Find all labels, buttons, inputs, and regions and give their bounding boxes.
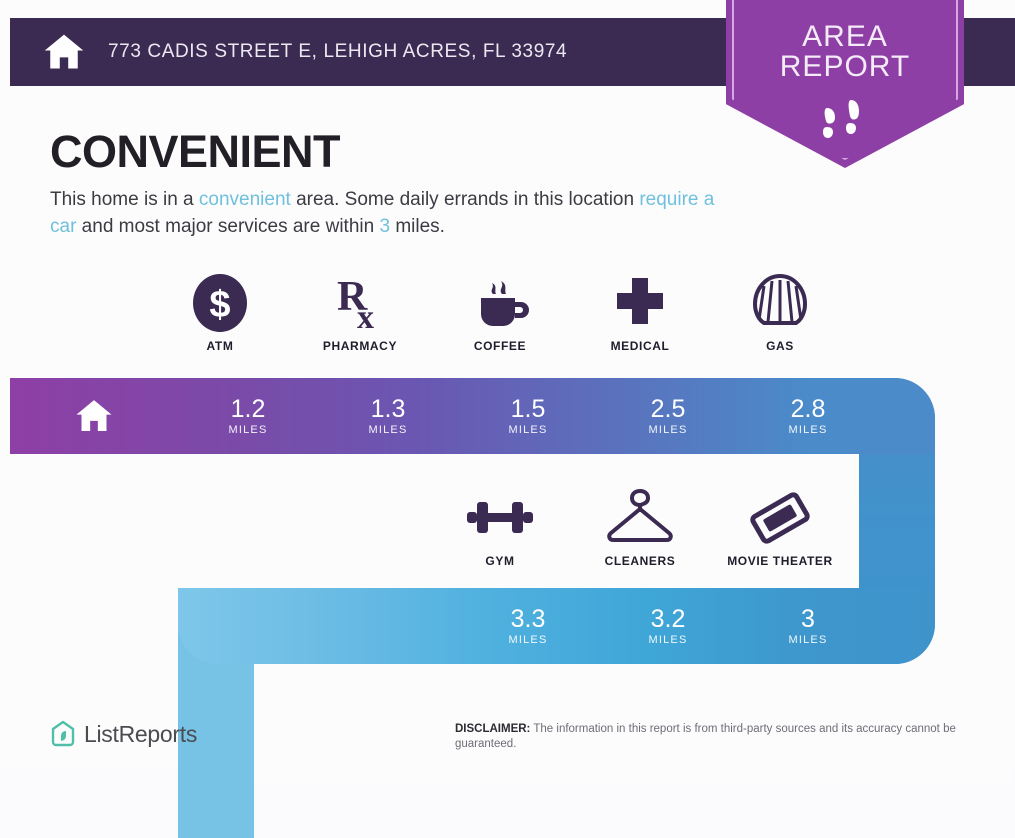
desc-part-1: This home is in a	[50, 189, 199, 210]
distance-value: 3.2	[651, 606, 686, 632]
coffee-cup-icon	[467, 272, 533, 334]
distance-unit: MILES	[508, 424, 547, 436]
bar-spacer-2	[318, 588, 458, 664]
page-title: CONVENIENT	[50, 126, 340, 178]
distance-bar-row-1: 1.2 MILES 1.3 MILES 1.5 MILES 2.5 MILES …	[10, 378, 935, 454]
distance-unit: MILES	[228, 424, 267, 436]
distance-unit: MILES	[788, 424, 827, 436]
home-icon	[42, 30, 86, 74]
home-icon	[71, 396, 117, 436]
amenity-label: PHARMACY	[323, 339, 397, 353]
hanger-icon	[603, 487, 677, 549]
disclaimer: DISCLAIMER: The information in this repo…	[455, 722, 1000, 752]
property-address: 773 CADIS STREET E, LEHIGH ACRES, FL 339…	[108, 41, 567, 63]
amenity-cleaners: CLEANERS	[570, 487, 710, 568]
desc-part-3: and most major services are within	[76, 216, 379, 237]
ticket-icon	[747, 487, 813, 549]
distance-value: 2.5	[651, 396, 686, 422]
amenity-label: MEDICAL	[611, 339, 670, 353]
amenity-pharmacy: R x PHARMACY	[290, 272, 430, 353]
medical-cross-icon	[611, 272, 669, 334]
footprints-icon	[817, 98, 873, 146]
desc-part-4: miles.	[390, 216, 445, 237]
bar-home-cell	[10, 378, 178, 454]
amenity-label: MOVIE THEATER	[727, 554, 833, 568]
svg-text:x: x	[357, 299, 374, 334]
desc-part-2: area. Some daily errands in this locatio…	[291, 189, 640, 210]
amenity-coffee: COFFEE	[430, 272, 570, 353]
distance-cell-gym: 3.3 MILES	[458, 588, 598, 664]
listreports-logo[interactable]: ListReports	[50, 720, 197, 748]
distance-value: 3.3	[511, 606, 546, 632]
disclaimer-label: DISCLAIMER:	[455, 723, 530, 735]
amenity-atm: $ ATM	[150, 272, 290, 353]
distance-value: 1.2	[231, 396, 266, 422]
distance-value: 2.8	[791, 396, 826, 422]
amenity-label: ATM	[207, 339, 234, 353]
area-report-page: 773 CADIS STREET E, LEHIGH ACRES, FL 339…	[0, 0, 1015, 768]
amenity-icon-row-2: GYM CLEANERS MOVIE THEATER	[430, 487, 850, 568]
bar-spacer-1	[178, 588, 318, 664]
amenity-gas: GAS	[710, 272, 850, 353]
amenity-label: CLEANERS	[605, 554, 676, 568]
dollar-circle-icon: $	[191, 272, 249, 334]
amenity-movie-theater: MOVIE THEATER	[710, 487, 850, 568]
distance-cell-atm: 1.2 MILES	[178, 378, 318, 454]
distance-cell-cleaners: 3.2 MILES	[598, 588, 738, 664]
distance-value: 1.3	[371, 396, 406, 422]
distance-value: 1.5	[511, 396, 546, 422]
description-text: This home is in a convenient area. Some …	[50, 186, 730, 240]
badge-line-1: AREA	[726, 22, 964, 52]
gas-shell-icon	[750, 272, 810, 334]
disclaimer-text: The information in this report is from t…	[455, 723, 956, 750]
distance-cell-gas: 2.8 MILES	[738, 378, 878, 454]
badge-title: AREA REPORT	[726, 0, 964, 82]
dumbbell-icon	[463, 487, 537, 549]
distance-unit: MILES	[508, 634, 547, 646]
amenity-medical: MEDICAL	[570, 272, 710, 353]
desc-highlight-1: convenient	[199, 189, 291, 210]
amenity-gym: GYM	[430, 487, 570, 568]
distance-cell-medical: 2.5 MILES	[598, 378, 738, 454]
distance-value: 3	[801, 606, 815, 632]
distance-cell-coffee: 1.5 MILES	[458, 378, 598, 454]
distance-bar-row-2: 3.3 MILES 3.2 MILES 3 MILES	[178, 588, 935, 664]
distance-unit: MILES	[788, 634, 827, 646]
distance-unit: MILES	[648, 424, 687, 436]
distance-unit: MILES	[368, 424, 407, 436]
badge-line-2: REPORT	[726, 52, 964, 82]
amenity-label: GAS	[766, 339, 794, 353]
amenity-label: COFFEE	[474, 339, 526, 353]
amenity-label: GYM	[485, 554, 514, 568]
distance-unit: MILES	[648, 634, 687, 646]
rx-icon: R x	[331, 272, 389, 334]
amenity-icon-row-1: $ ATM R x PHARMACY	[150, 272, 850, 353]
distance-cell-movie-theater: 3 MILES	[738, 588, 878, 664]
listreports-house-icon	[50, 720, 76, 748]
area-report-badge: AREA REPORT	[726, 0, 964, 168]
desc-highlight-3: 3	[379, 216, 390, 237]
svg-text:$: $	[209, 284, 230, 326]
listreports-logo-text: ListReports	[84, 721, 197, 748]
distance-cell-pharmacy: 1.3 MILES	[318, 378, 458, 454]
